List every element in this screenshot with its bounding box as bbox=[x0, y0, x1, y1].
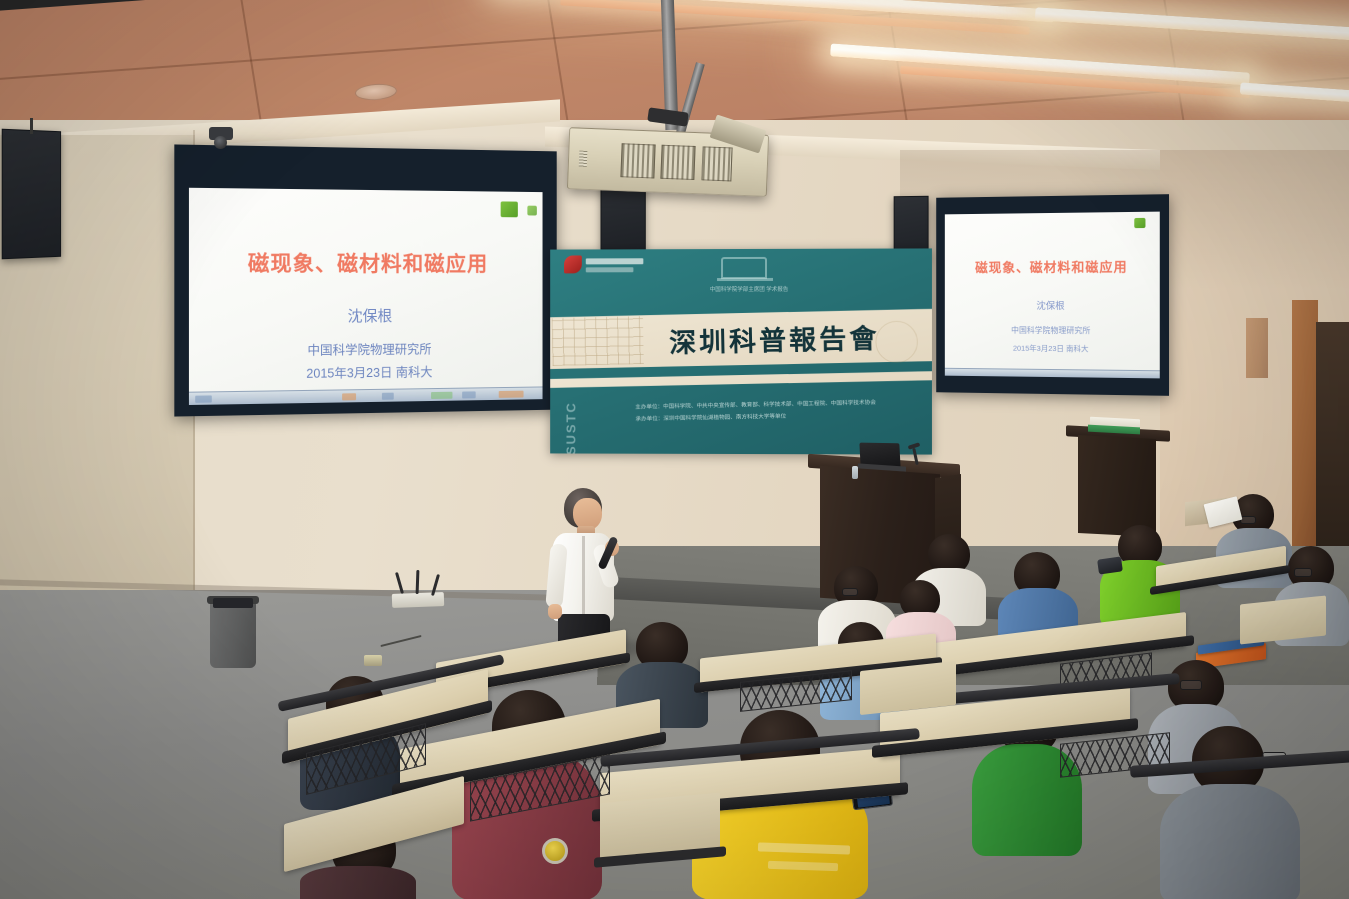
camera-lens-icon bbox=[214, 136, 227, 149]
projector-vent bbox=[701, 146, 732, 181]
taskbar-item bbox=[382, 393, 394, 400]
academy-logo-icon bbox=[564, 255, 582, 273]
right-screen-surface: 磁现象、磁材料和磁应用 沈保根 中国科学院物理研究所 2015年3月23日 南科… bbox=[945, 212, 1160, 379]
slide-date-venue-secondary: 2015年3月23日 南科大 bbox=[945, 342, 1160, 355]
taskbar-item bbox=[195, 395, 212, 402]
institution-emblem-icon bbox=[721, 257, 767, 279]
slide-author-secondary: 沈保根 bbox=[945, 298, 1160, 312]
shirt-placket bbox=[582, 536, 585, 616]
banner-subtitle: 中国科学院学部主席团 学术报告 bbox=[669, 285, 829, 293]
left-screen-surface: 磁现象、磁材料和磁应用 沈保根 中国科学院物理研究所 2015年3月23日 南科… bbox=[189, 188, 543, 405]
banner-decorative-diagram bbox=[552, 316, 644, 366]
slide-logo-icon bbox=[527, 206, 536, 216]
speaker-mount bbox=[30, 118, 33, 134]
taskbar-item bbox=[342, 393, 356, 400]
wifi-router bbox=[392, 592, 444, 608]
taskbar-clock bbox=[499, 391, 524, 398]
audience-torso bbox=[1160, 784, 1300, 899]
audience-torso bbox=[300, 866, 416, 899]
water-bottle bbox=[852, 466, 858, 479]
desktop-taskbar-secondary bbox=[945, 368, 1160, 379]
slide-logo-icon bbox=[1134, 218, 1145, 228]
organizers-label: 主办单位： bbox=[635, 404, 663, 411]
slide-logo-icon bbox=[501, 201, 518, 217]
cohost-label: 承办单位： bbox=[635, 416, 663, 423]
eyeglasses-icon bbox=[842, 588, 858, 596]
event-banner: 中国科学院学部主席团 学术报告 深圳科普報告會 主办单位：中国科学院、中共中央宣… bbox=[550, 248, 932, 454]
trash-bin bbox=[210, 600, 256, 668]
doorway bbox=[1316, 322, 1349, 572]
projector-indicator bbox=[579, 151, 588, 167]
organizers-text: 中国科学院、中共中央宣传部、教育部、科学技术部、中国工程院、中国科学技术协会 bbox=[663, 400, 876, 410]
eyeglasses-icon bbox=[1294, 568, 1312, 577]
projector-vent bbox=[620, 143, 655, 178]
left-screen-frame: 磁现象、磁材料和磁应用 沈保根 中国科学院物理研究所 2015年3月23日 南科… bbox=[174, 144, 556, 416]
banner-title: 深圳科普報告會 bbox=[649, 316, 900, 360]
trash-bin-liner bbox=[213, 598, 253, 608]
lecture-hall-photo: 磁现象、磁材料和磁应用 沈保根 中国科学院物理研究所 2015年3月23日 南科… bbox=[0, 0, 1349, 899]
eyeglasses-icon bbox=[1240, 516, 1256, 524]
projector-vent bbox=[660, 145, 695, 180]
wall-speaker-left bbox=[2, 129, 61, 260]
emblem-base bbox=[717, 278, 773, 281]
slide-title-secondary: 磁现象、磁材料和磁应用 bbox=[945, 256, 1160, 276]
banner-side-text: SUSTC bbox=[564, 401, 579, 454]
logo-wordmark bbox=[586, 258, 644, 264]
seat-number-plate bbox=[542, 838, 568, 864]
slide-author: 沈保根 bbox=[189, 304, 543, 327]
cohost-text: 深圳中国科学院仙湖植物园、南方科技大学等单位 bbox=[663, 414, 786, 422]
taskbar-item bbox=[462, 391, 476, 398]
taskbar-item bbox=[431, 392, 452, 399]
slide-affiliation-secondary: 中国科学院物理研究所 bbox=[945, 325, 1160, 337]
right-screen-frame: 磁现象、磁材料和磁应用 沈保根 中国科学院物理研究所 2015年3月23日 南科… bbox=[936, 194, 1169, 396]
slide-title: 磁现象、磁材料和磁应用 bbox=[189, 247, 543, 278]
desktop-taskbar bbox=[189, 386, 543, 405]
logo-wordmark-sub bbox=[586, 267, 634, 272]
side-table bbox=[1078, 435, 1156, 537]
slide-date-venue: 2015年3月23日 南科大 bbox=[189, 360, 543, 383]
door-frame bbox=[1292, 300, 1318, 570]
floor-power-outlet bbox=[364, 655, 382, 666]
presenter-hand-left bbox=[548, 604, 562, 619]
slide-affiliation: 中国科学院物理研究所 bbox=[189, 338, 543, 360]
door-trim bbox=[1246, 318, 1268, 378]
eyeglasses-icon bbox=[1180, 680, 1202, 690]
